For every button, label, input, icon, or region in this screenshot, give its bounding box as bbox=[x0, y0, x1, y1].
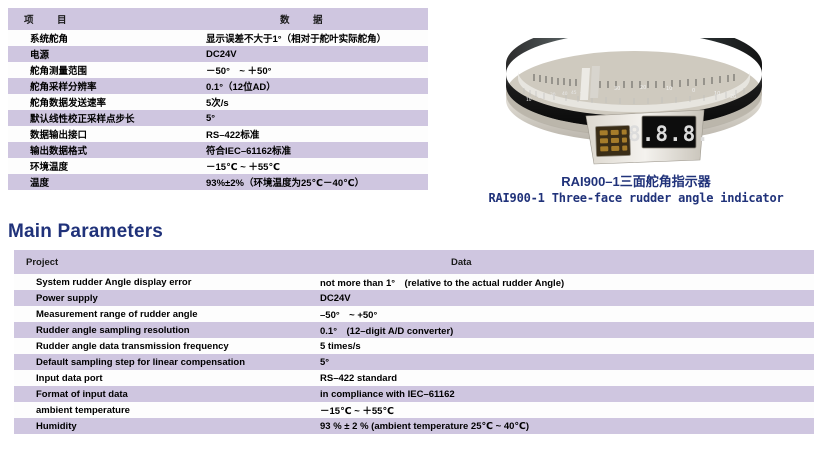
cn-row-value: 显示误差不大于1°（相对于舵叶实际舵角） bbox=[202, 30, 428, 46]
cn-row-label: 温度 bbox=[8, 174, 202, 190]
cn-row-value: RS–422标准 bbox=[202, 126, 428, 142]
chinese-spec-table-container: 项 目 数 据 系统舵角显示误差不大于1°（相对于舵叶实际舵角）电源DC24V舵… bbox=[8, 8, 428, 190]
table-row: 电源DC24V bbox=[8, 46, 428, 62]
en-row-label: Default sampling step for linear compens… bbox=[14, 354, 318, 370]
chinese-header-data: 数 据 bbox=[202, 8, 428, 30]
main-parameters-heading: Main Parameters bbox=[8, 221, 163, 243]
table-row: 温度93%±2%（环境温度为25℃－40℃） bbox=[8, 174, 428, 190]
english-spec-table: Project Data System rudder Angle display… bbox=[14, 250, 814, 434]
rudder-angle-indicator-photo: 4540 3020 100 1020 1020 3040 45 bbox=[474, 38, 794, 168]
device-illustration: 4540 3020 100 1020 1020 3040 45 bbox=[474, 38, 794, 168]
english-spec-table-container: Project Data System rudder Angle display… bbox=[14, 250, 814, 434]
table-row: 环境温度－15℃ ~ ＋55℃ bbox=[8, 158, 428, 174]
english-header-data: Data bbox=[318, 250, 814, 274]
en-row-label: Power supply bbox=[14, 290, 318, 306]
en-row-value: 5 times/s bbox=[318, 338, 814, 354]
chinese-header-project: 项 目 bbox=[8, 8, 202, 30]
chinese-table-head: 项 目 数 据 bbox=[8, 8, 428, 30]
cn-row-label: 系统舵角 bbox=[8, 30, 202, 46]
table-row: 舵角数据发送速率5次/s bbox=[8, 94, 428, 110]
en-row-value: 5° bbox=[318, 354, 814, 370]
svg-text:20: 20 bbox=[538, 94, 544, 100]
svg-text:10: 10 bbox=[526, 97, 532, 103]
cn-row-label: 数据输出接口 bbox=[8, 126, 202, 142]
en-row-label: Measurement range of rudder angle bbox=[14, 306, 318, 322]
svg-text:30: 30 bbox=[550, 92, 556, 98]
product-caption-chinese: RAI900–1三面舵角指示器 bbox=[452, 174, 820, 190]
table-row: System rudder Angle display errornot mor… bbox=[14, 274, 814, 290]
cn-row-label: 默认线性校正采样点步长 bbox=[8, 110, 202, 126]
table-row: Humidity93 % ± 2 % (ambient temperature … bbox=[14, 418, 814, 434]
english-table-head: Project Data bbox=[14, 250, 814, 274]
cn-row-label: 电源 bbox=[8, 46, 202, 62]
cn-row-value: －15℃ ~ ＋55℃ bbox=[202, 158, 428, 174]
english-table-body: System rudder Angle display errornot mor… bbox=[14, 274, 814, 434]
cn-row-value: 5次/s bbox=[202, 94, 428, 110]
english-header-project: Project bbox=[14, 250, 318, 274]
en-row-value: 93 % ± 2 % (ambient temperature 25℃ ~ 40… bbox=[318, 418, 814, 434]
en-row-label: Input data port bbox=[14, 370, 318, 386]
table-row: 舵角采样分辨率0.1°（12位AD） bbox=[8, 78, 428, 94]
en-row-value: not more than 1° (relative to the actual… bbox=[318, 274, 814, 290]
cn-row-label: 环境温度 bbox=[8, 158, 202, 174]
seven-segment-display: 8.8.8. bbox=[628, 122, 710, 146]
en-row-value: –50° ~ +50° bbox=[318, 306, 814, 322]
en-row-label: Format of input data bbox=[14, 386, 318, 402]
chinese-table-header-row: 项 目 数 据 bbox=[8, 8, 428, 30]
en-row-label: Rudder angle sampling resolution bbox=[14, 322, 318, 338]
product-caption: RAI900–1三面舵角指示器 RAI900-1 Three-face rudd… bbox=[452, 174, 820, 206]
cn-row-label: 舵角测量范围 bbox=[8, 62, 202, 78]
en-row-value: －15℃ ~ ＋55℃ bbox=[318, 402, 814, 418]
cn-row-value: DC24V bbox=[202, 46, 428, 62]
svg-text:40: 40 bbox=[562, 91, 568, 97]
en-row-label: ambient temperature bbox=[14, 402, 318, 418]
table-row: 数据输出接口RS–422标准 bbox=[8, 126, 428, 142]
svg-text:30: 30 bbox=[614, 86, 620, 92]
table-row: 系统舵角显示误差不大于1°（相对于舵叶实际舵角） bbox=[8, 30, 428, 46]
table-row: Rudder angle data transmission frequency… bbox=[14, 338, 814, 354]
svg-text:20: 20 bbox=[730, 94, 736, 100]
chinese-table-body: 系统舵角显示误差不大于1°（相对于舵叶实际舵角）电源DC24V舵角测量范围－50… bbox=[8, 30, 428, 190]
table-row: Format of input datain compliance with I… bbox=[14, 386, 814, 402]
en-row-label: System rudder Angle display error bbox=[14, 274, 318, 290]
table-row: Rudder angle sampling resolution0.1° (12… bbox=[14, 322, 814, 338]
product-figure: 4540 3020 100 1020 1020 3040 45 bbox=[452, 38, 820, 213]
svg-text:20: 20 bbox=[640, 85, 646, 91]
table-row: 舵角测量范围－50° ~ ＋50° bbox=[8, 62, 428, 78]
en-row-value: 0.1° (12–digit A/D converter) bbox=[318, 322, 814, 338]
cn-row-value: 93%±2%（环境温度为25℃－40℃） bbox=[202, 174, 428, 190]
english-table-header-row: Project Data bbox=[14, 250, 814, 274]
svg-text:0: 0 bbox=[692, 88, 695, 94]
en-row-value: in compliance with IEC–61162 bbox=[318, 386, 814, 402]
table-row: 默认线性校正采样点步长5° bbox=[8, 110, 428, 126]
product-caption-english: RAI900-1 Three-face rudder angle indicat… bbox=[452, 190, 820, 206]
chinese-spec-table: 项 目 数 据 系统舵角显示误差不大于1°（相对于舵叶实际舵角）电源DC24V舵… bbox=[8, 8, 428, 190]
table-row: Input data portRS–422 standard bbox=[14, 370, 814, 386]
cn-row-value: －50° ~ ＋50° bbox=[202, 62, 428, 78]
svg-text:10: 10 bbox=[714, 91, 720, 97]
table-row: Measurement range of rudder angle–50° ~ … bbox=[14, 306, 814, 322]
svg-text:45: 45 bbox=[571, 90, 577, 96]
en-row-value: DC24V bbox=[318, 290, 814, 306]
cn-row-value: 符合IEC–61162标准 bbox=[202, 142, 428, 158]
table-row: Power supplyDC24V bbox=[14, 290, 814, 306]
en-row-label: Humidity bbox=[14, 418, 318, 434]
table-row: 输出数据格式符合IEC–61162标准 bbox=[8, 142, 428, 158]
svg-text:10: 10 bbox=[666, 86, 672, 92]
table-row: ambient temperature－15℃ ~ ＋55℃ bbox=[14, 402, 814, 418]
cn-row-label: 舵角采样分辨率 bbox=[8, 78, 202, 94]
cn-row-value: 5° bbox=[202, 110, 428, 126]
table-row: Default sampling step for linear compens… bbox=[14, 354, 814, 370]
cn-row-value: 0.1°（12位AD） bbox=[202, 78, 428, 94]
en-row-value: RS–422 standard bbox=[318, 370, 814, 386]
cn-row-label: 输出数据格式 bbox=[8, 142, 202, 158]
cn-row-label: 舵角数据发送速率 bbox=[8, 94, 202, 110]
en-row-label: Rudder angle data transmission frequency bbox=[14, 338, 318, 354]
